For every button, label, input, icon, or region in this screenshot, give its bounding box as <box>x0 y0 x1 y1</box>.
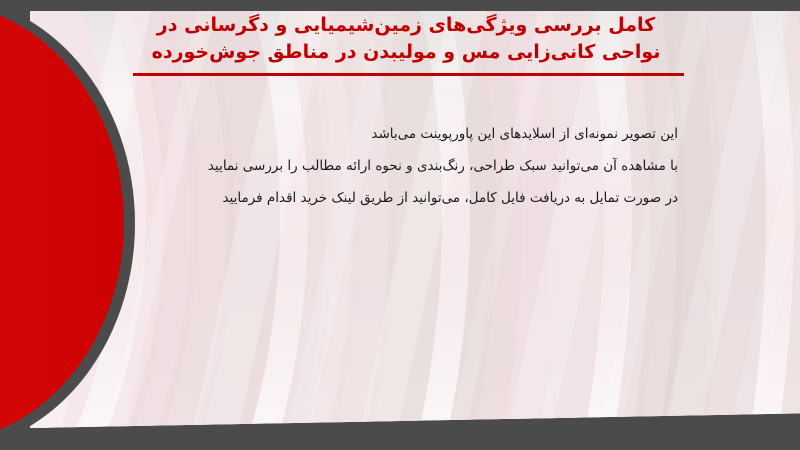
slide-body-text: این تصویر نمونه‌ای از اسلایدهای این پاور… <box>208 118 678 214</box>
title-line-1: کامل بررسی ویژگی‌های زمین‌شیمیایی و دگرس… <box>120 12 692 39</box>
slide-frame-top <box>0 0 800 12</box>
body-line-1: این تصویر نمونه‌ای از اسلایدهای این پاور… <box>208 118 678 150</box>
slide-title: کامل بررسی ویژگی‌های زمین‌شیمیایی و دگرس… <box>120 12 692 66</box>
body-line-2: با مشاهده آن می‌توانید سبک طراحی، رنگ‌بن… <box>208 150 678 182</box>
presentation-slide: کامل بررسی ویژگی‌های زمین‌شیمیایی و دگرس… <box>0 0 800 450</box>
title-underline <box>133 73 684 76</box>
body-line-3: در صورت تمایل به دریافت فایل کامل، می‌تو… <box>208 182 678 214</box>
title-line-2: نواحی کانی‌زایی مس و مولیبدن در مناطق جو… <box>120 39 692 66</box>
